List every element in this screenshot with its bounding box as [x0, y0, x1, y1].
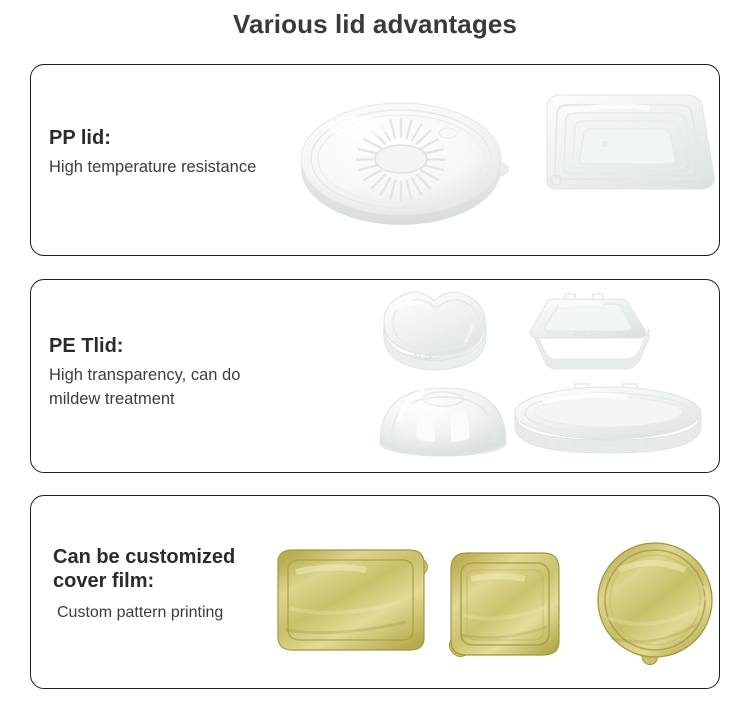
oval-flat-pet-lid-image — [503, 378, 713, 458]
pp-lid-heading: PP lid: — [49, 127, 256, 151]
cover-film-heading: Can be customized cover film: — [53, 546, 235, 593]
cover-film-text-block: Can be customized cover film: Custom pat… — [53, 546, 235, 624]
round-ribbed-pp-lid-image — [296, 85, 526, 235]
svg-text:♻: ♻ — [601, 140, 608, 149]
page-title: Various lid advantages — [0, 9, 750, 40]
card-cover-film: Can be customized cover film: Custom pat… — [30, 495, 720, 689]
cover-film-description: Custom pattern printing — [57, 601, 235, 624]
pe-tlid-heading: PE Tlid: — [49, 335, 240, 359]
pp-lid-description: High temperature resistance — [49, 156, 256, 180]
dome-pet-lid-image — [363, 373, 523, 463]
pp-lid-text-block: PP lid: High temperature resistance — [49, 127, 256, 180]
square-pet-lid-image — [513, 286, 673, 376]
card-pp-lid: PP lid: High temperature resistance — [30, 64, 720, 256]
pe-tlid-description: High transparency, can do mildew treatme… — [49, 364, 240, 412]
card-pe-tlid: PE Tlid: High transparency, can do milde… — [30, 279, 720, 473]
gold-square-cover-film-image — [437, 539, 587, 669]
gold-round-cover-film-image — [577, 534, 737, 674]
gold-rectangular-cover-film-image — [266, 538, 446, 668]
pe-tlid-text-block: PE Tlid: High transparency, can do milde… — [49, 335, 240, 411]
rectangular-pp-lid-image: ♻ — [509, 81, 729, 221]
heart-shaped-pet-lid-image — [356, 285, 516, 375]
